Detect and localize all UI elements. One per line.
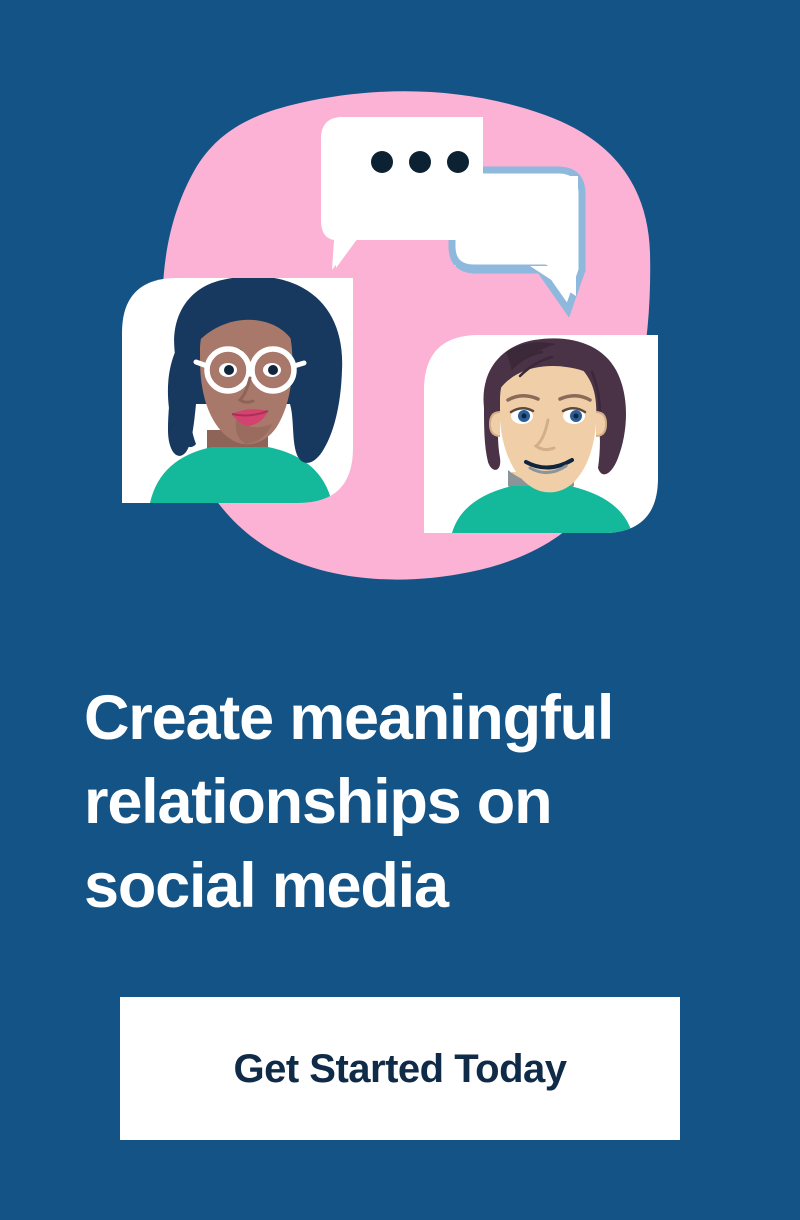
typing-dots <box>371 151 469 173</box>
person-with-glasses-card <box>122 276 353 503</box>
promo-banner: Create meaningful relationships on socia… <box>0 0 800 1220</box>
page-title: Create meaningful relationships on socia… <box>84 676 724 928</box>
person-short-hair-card <box>424 335 658 533</box>
get-started-button-label: Get Started Today <box>233 1049 566 1089</box>
illustration-container <box>0 0 800 620</box>
get-started-button[interactable]: Get Started Today <box>120 997 680 1140</box>
